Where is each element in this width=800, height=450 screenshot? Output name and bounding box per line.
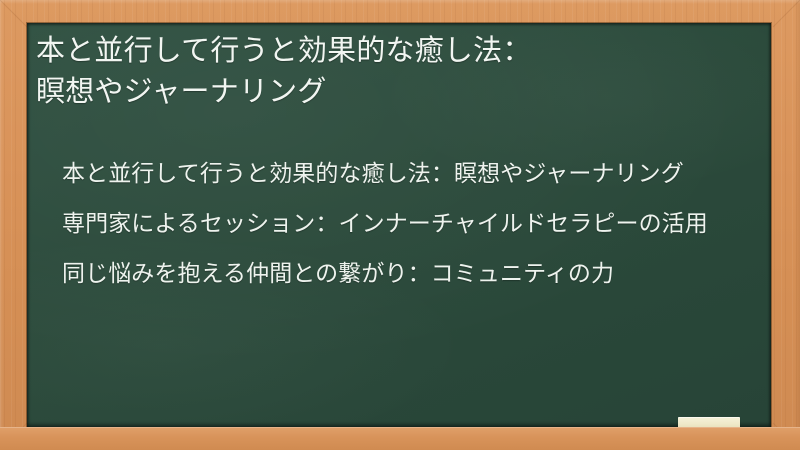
chalkboard-content: 本と並行して行うと効果的な癒し法： 瞑想やジャーナリング 本と並行して行うと効果…: [27, 23, 771, 427]
slide-title: 本と並行して行うと効果的な癒し法： 瞑想やジャーナリング: [36, 31, 752, 113]
chalkboard-surface: 本と並行して行うと効果的な癒し法： 瞑想やジャーナリング 本と並行して行うと効果…: [27, 23, 771, 427]
chalkboard-slide: 本と並行して行うと効果的な癒し法： 瞑想やジャーナリング 本と並行して行うと効果…: [0, 0, 800, 450]
list-item: 専門家によるセッション：インナーチャイルドセラピーの活用: [62, 206, 752, 240]
bullet-list: 本と並行して行うと効果的な癒し法：瞑想やジャーナリング 専門家によるセッション：…: [62, 156, 752, 290]
list-item: 同じ悩みを抱える仲間との繋がり：コミュニティの力: [62, 256, 752, 290]
chalk-stick-icon: [678, 417, 740, 427]
list-item: 本と並行して行うと効果的な癒し法：瞑想やジャーナリング: [62, 156, 752, 190]
